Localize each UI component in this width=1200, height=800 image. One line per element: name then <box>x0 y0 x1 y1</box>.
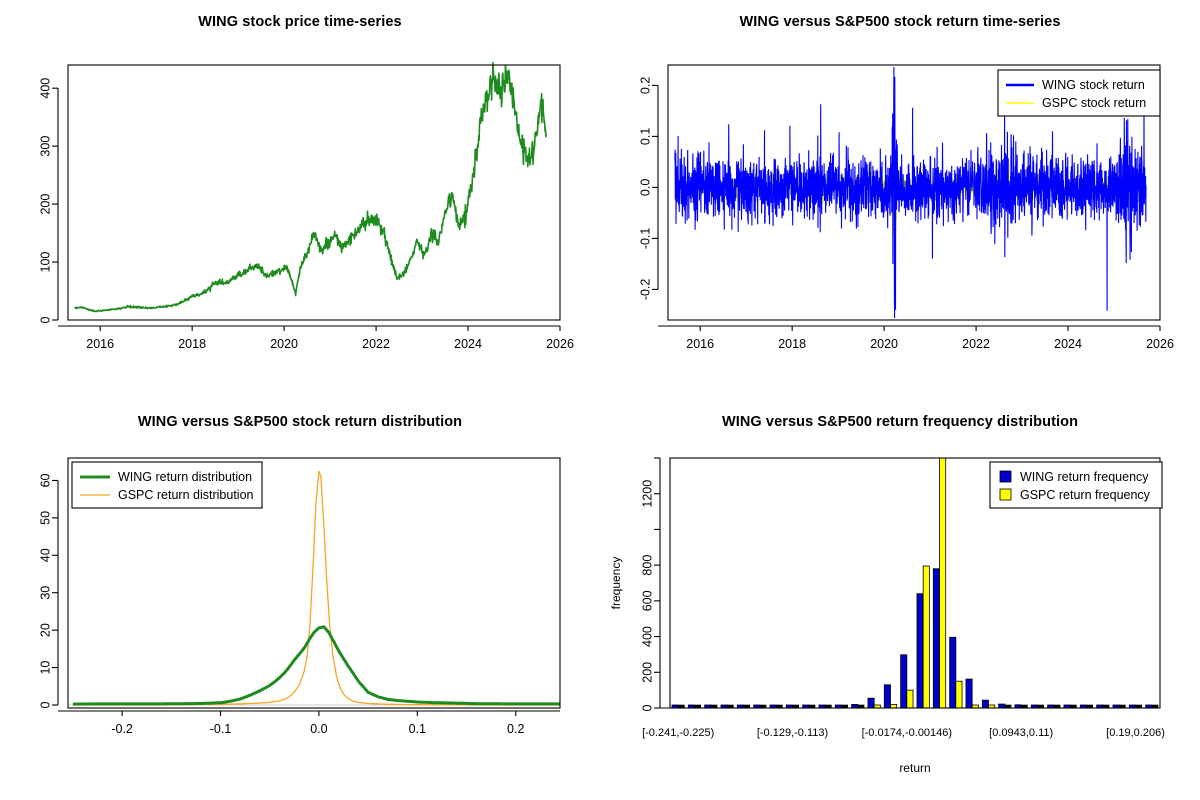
return-timeseries-legend: WING stock returnGSPC stock return <box>998 70 1160 116</box>
x-tick-label: 2024 <box>1054 337 1082 351</box>
legend-entry-label: GSPC return distribution <box>118 488 254 502</box>
x-tick-label: [-0.129,-0.113) <box>757 727 828 739</box>
histogram-bar-wing <box>884 685 890 708</box>
panel-wing-price-timeseries: WING stock price time-series 20162018202… <box>0 0 600 400</box>
y-tick-label: 0 <box>38 701 52 708</box>
wing-price-svg: 2016201820202022202420260100200300400 <box>0 0 600 400</box>
legend-entry-label: GSPC stock return <box>1042 96 1146 110</box>
histogram-bar-wing <box>917 594 923 708</box>
return-timeseries-svg: 201620182020202220242026-0.2-0.10.00.10.… <box>600 0 1200 400</box>
y-tick-label: 40 <box>38 548 52 562</box>
y-axis-label: frequency <box>609 557 623 610</box>
y-tick-label: 10 <box>38 661 52 675</box>
y-tick-label: 1200 <box>640 480 654 508</box>
x-tick-label: 2018 <box>778 337 806 351</box>
x-tick-label: 2018 <box>178 337 206 351</box>
y-tick-label: 200 <box>38 194 52 215</box>
histogram-bar-wing <box>933 569 939 708</box>
x-tick-label: 2020 <box>870 337 898 351</box>
return-density-legend: WING return distributionGSPC return dist… <box>72 462 262 508</box>
panel-return-frequency: WING versus S&P500 return frequency dist… <box>600 400 1200 800</box>
y-tick-label: 0.0 <box>638 179 652 196</box>
x-tick-label: 2016 <box>686 337 714 351</box>
y-tick-label: 800 <box>640 555 654 576</box>
y-tick-label: 0.2 <box>638 77 652 94</box>
histogram-bar-wing <box>868 698 874 708</box>
y-tick-label: -0.2 <box>638 279 652 301</box>
panel-return-timeseries: WING versus S&P500 stock return time-ser… <box>600 0 1200 400</box>
histogram-bar-gspc <box>907 690 913 708</box>
y-tick-label: 200 <box>640 662 654 683</box>
x-tick-label: 2022 <box>962 337 990 351</box>
histogram-bar-wing <box>901 655 907 708</box>
y-tick-label: 30 <box>38 586 52 600</box>
x-tick-label: 2016 <box>86 337 114 351</box>
x-tick-label: [-0.241,-0.225) <box>642 727 714 739</box>
y-tick-label: 100 <box>38 252 52 273</box>
x-tick-label: 2026 <box>1146 337 1174 351</box>
return-frequency-svg: 02004006008001200[-0.241,-0.225)[-0.129,… <box>600 400 1200 800</box>
y-tick-label: -0.1 <box>638 228 652 250</box>
histogram-bar-wing <box>966 679 972 708</box>
return-frequency-legend: WING return frequencyGSPC return frequen… <box>990 462 1162 508</box>
y-tick-label: 50 <box>38 511 52 525</box>
x-tick-label: -0.1 <box>210 722 232 736</box>
histogram-bar-wing <box>999 704 1005 708</box>
y-tick-label: 0 <box>640 704 654 711</box>
histogram-bar-gspc <box>956 681 962 708</box>
y-tick-label: 400 <box>38 78 52 99</box>
y-tick-label: 20 <box>38 623 52 637</box>
x-tick-label: [-0.0174,-0.00146) <box>862 727 953 739</box>
x-tick-label: 2026 <box>546 337 574 351</box>
x-tick-label: 0.2 <box>507 722 524 736</box>
plot-grid: WING stock price time-series 20162018202… <box>0 0 1200 800</box>
x-tick-label: 0.0 <box>310 722 327 736</box>
x-axis-label: return <box>899 761 930 775</box>
plot-box <box>68 65 560 320</box>
legend-entry-label: WING stock return <box>1042 78 1145 92</box>
legend-entry-label: GSPC return frequency <box>1020 488 1151 502</box>
panel-return-density: WING versus S&P500 stock return distribu… <box>0 400 600 800</box>
histogram-bar-wing <box>950 637 956 708</box>
legend-entry-label: WING return distribution <box>118 470 252 484</box>
y-tick-label: 60 <box>38 473 52 487</box>
x-tick-label: 0.1 <box>409 722 426 736</box>
x-tick-label: -0.2 <box>111 722 133 736</box>
histogram-bar-gspc <box>923 566 929 708</box>
return-density-svg: -0.2-0.10.00.10.20102030405060 WING retu… <box>0 400 600 800</box>
y-tick-label: 0.1 <box>638 128 652 145</box>
wing-density-line <box>73 627 560 704</box>
y-tick-label: 300 <box>38 136 52 157</box>
x-tick-label: [0.0943,0.11) <box>989 727 1053 739</box>
y-tick-label: 400 <box>640 626 654 647</box>
y-tick-label: 600 <box>640 590 654 611</box>
histogram-bar-gspc <box>940 458 946 708</box>
legend-entry-label: WING return frequency <box>1020 470 1149 484</box>
x-tick-label: 2022 <box>362 337 390 351</box>
x-tick-label: 2024 <box>454 337 482 351</box>
x-tick-label: 2020 <box>270 337 298 351</box>
x-tick-label: [0.19,0.206) <box>1106 727 1165 739</box>
y-tick-label: 0 <box>38 316 52 323</box>
histogram-bar-wing <box>982 700 988 708</box>
wing-price-line <box>75 62 546 311</box>
